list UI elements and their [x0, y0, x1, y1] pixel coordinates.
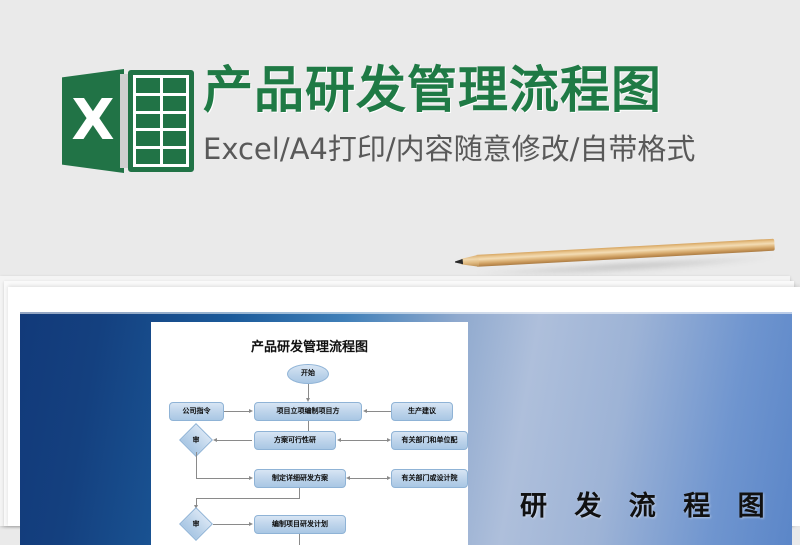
grid-cell [136, 78, 160, 93]
connector-arrow [346, 476, 350, 480]
page-subtitle: Excel/A4打印/内容随意修改/自带格式 [203, 132, 695, 167]
connector-arrow [249, 409, 253, 413]
connector-arrow [337, 438, 341, 442]
connector-line [196, 452, 197, 478]
connector-line [350, 478, 388, 479]
grid-cell [136, 131, 160, 146]
connector-line [367, 411, 391, 412]
connector-line [213, 524, 251, 525]
preview-card-stack: 产品研发管理流程图 开始 公司指令 项目立项编制项目方 生产建议 审 方案可行性… [0, 268, 800, 526]
flow-node-company-order[interactable]: 公司指令 [169, 402, 224, 421]
slide-caption: 研 发 流 程 图 [520, 484, 774, 523]
flow-node-project-setup[interactable]: 项目立项编制项目方 [254, 402, 362, 421]
grid-cell [136, 96, 160, 111]
pencil-graphite-tip [455, 259, 463, 265]
grid-cell [163, 114, 187, 129]
slide-preview[interactable]: 产品研发管理流程图 开始 公司指令 项目立项编制项目方 生产建议 审 方案可行性… [20, 312, 792, 545]
connector-line [196, 478, 250, 479]
excel-logo-letter: X [62, 69, 124, 173]
slide-top-highlight [20, 312, 792, 314]
connector-arrow [363, 409, 367, 413]
flowchart-title: 产品研发管理流程图 [151, 336, 468, 355]
connector-line [196, 498, 300, 499]
grid-cell [163, 78, 187, 93]
connector-line [299, 488, 300, 498]
flow-node-review-1-label: 审 [176, 432, 216, 448]
flow-node-start[interactable]: 开始 [287, 364, 329, 384]
flowchart-document[interactable]: 产品研发管理流程图 开始 公司指令 项目立项编制项目方 生产建议 审 方案可行性… [151, 322, 468, 545]
connector-line [299, 534, 300, 545]
flow-node-related-depts-units[interactable]: 有关部门和单位配 [391, 431, 468, 450]
header-banner: X 产品研发管理流程图 Excel/A4打印/内容随意修改/自带格式 [0, 0, 800, 240]
connector-arrow [249, 476, 253, 480]
grid-cell [163, 149, 187, 164]
preview-card[interactable]: 产品研发管理流程图 开始 公司指令 项目立项编制项目方 生产建议 审 方案可行性… [8, 287, 800, 526]
grid-cell [163, 96, 187, 111]
pencil-wood-cone [461, 255, 480, 268]
connector-arrow [213, 438, 217, 442]
flow-node-review-2-label: 审 [176, 516, 216, 532]
connector-arrow [249, 522, 253, 526]
grid-cell [163, 131, 187, 146]
page-title: 产品研发管理流程图 [203, 62, 662, 120]
grid-cell [136, 149, 160, 164]
connector-line [224, 411, 250, 412]
flow-node-feasibility[interactable]: 方案可行性研 [254, 431, 336, 450]
connector-line [217, 440, 252, 441]
excel-logo-grid [128, 70, 194, 172]
flow-node-detailed-plan[interactable]: 制定详细研发方案 [254, 469, 346, 488]
grid-cell [136, 114, 160, 129]
excel-logo-icon: X [62, 65, 197, 175]
connector-line [341, 440, 388, 441]
flow-node-related-dept-design[interactable]: 有关部门或设计院 [391, 469, 468, 488]
flow-node-rd-schedule[interactable]: 编制项目研发计划 [254, 515, 346, 534]
flow-node-production-suggestion[interactable]: 生产建议 [391, 402, 453, 421]
connector-arrow [387, 476, 391, 480]
connector-arrow [387, 438, 391, 442]
